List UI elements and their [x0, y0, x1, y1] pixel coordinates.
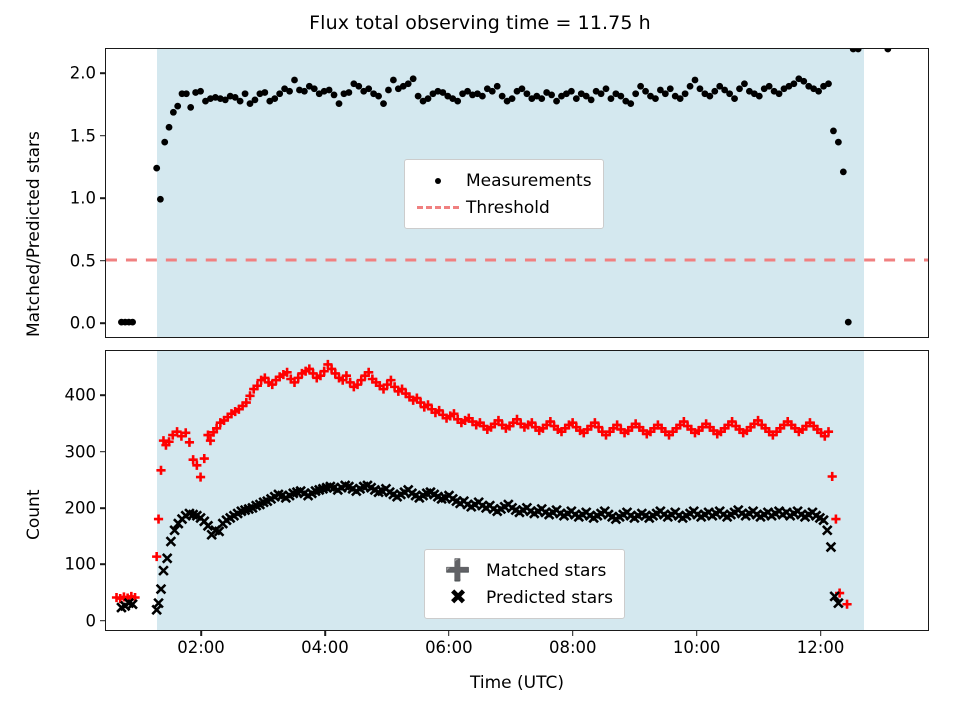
x-axis-label: Time (UTC): [105, 673, 929, 693]
x-tick-label: 02:00: [177, 638, 225, 657]
y-tick-label: 1.5: [40, 126, 96, 145]
legend-label-measurements: Measurements: [462, 171, 592, 191]
x-tick-mark: [696, 631, 698, 636]
page-title: Flux total observing time = 11.75 h: [0, 12, 960, 34]
y-tick-label: 400: [40, 386, 96, 405]
matched-stars-plus-icon: ➕: [434, 560, 482, 581]
x-tick-mark: [572, 631, 574, 636]
legend-item-threshold: Threshold: [414, 194, 592, 221]
measurements-dot-icon: [414, 178, 462, 184]
bottom-panel-legend: ➕ Matched stars ✖ Predicted stars: [424, 549, 625, 619]
y-tick-label: 0.0: [40, 314, 96, 333]
y-tick-label: 300: [40, 442, 96, 461]
y-tick-label: 2.0: [40, 64, 96, 83]
y-tick-label: 100: [40, 555, 96, 574]
top-panel-y-ticks: 0.00.51.01.52.0: [40, 48, 96, 338]
x-tick-label: 10:00: [673, 638, 721, 657]
legend-item-predicted-stars: ✖ Predicted stars: [434, 584, 613, 611]
legend-label-matched-stars: Matched stars: [482, 561, 606, 581]
x-tick-mark: [324, 631, 326, 636]
x-tick-mark: [820, 631, 822, 636]
top-panel-legend: Measurements Threshold: [404, 159, 604, 229]
legend-item-matched-stars: ➕ Matched stars: [434, 557, 613, 584]
legend-label-predicted-stars: Predicted stars: [482, 588, 613, 608]
figure-root: Flux total observing time = 11.75 h Matc…: [0, 0, 960, 720]
y-tick-label: 0: [40, 611, 96, 630]
x-tick-mark: [200, 631, 202, 636]
y-tick-label: 200: [40, 498, 96, 517]
legend-item-measurements: Measurements: [414, 167, 592, 194]
x-tick-label: 06:00: [425, 638, 473, 657]
x-tick-mark: [448, 631, 450, 636]
x-tick-label: 08:00: [549, 638, 597, 657]
bottom-panel-y-ticks: 0100200300400: [40, 350, 96, 631]
legend-label-threshold: Threshold: [462, 198, 550, 218]
predicted-stars-x-icon: ✖: [434, 587, 482, 608]
y-tick-label: 1.0: [40, 189, 96, 208]
x-tick-label: 04:00: [301, 638, 349, 657]
x-tick-label: 12:00: [797, 638, 845, 657]
threshold-dashed-line-icon: [414, 206, 462, 209]
y-tick-label: 0.5: [40, 251, 96, 270]
